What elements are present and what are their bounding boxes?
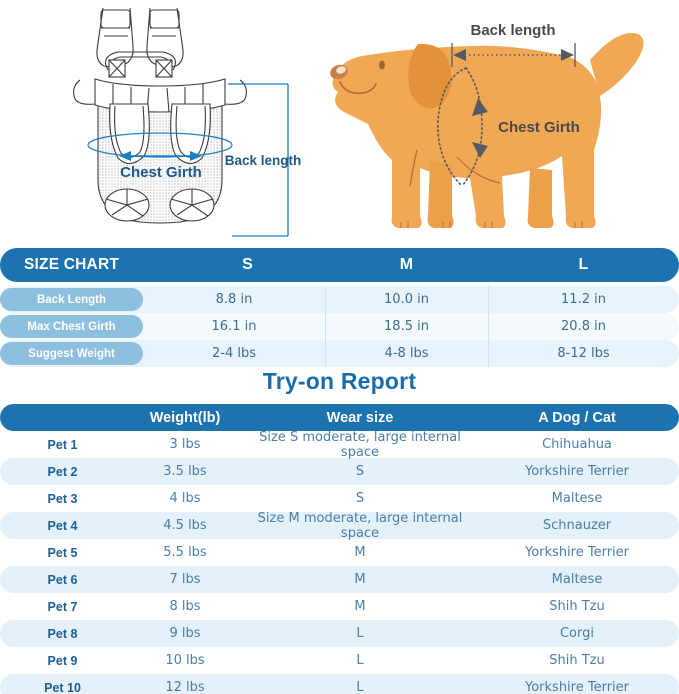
table-row: Pet 6 7 lbs M Maltese (0, 566, 679, 593)
cell-wear-size: L (245, 680, 475, 694)
size-chart-body: Back Length 8.8 in 10.0 in 11.2 in Max C… (0, 286, 679, 367)
cell-weight-m: 4-8 lbs (325, 346, 488, 361)
cell-weight: 7 lbs (125, 572, 245, 587)
cell-wear-size: S (245, 464, 475, 479)
cell-weight: 5.5 lbs (125, 545, 245, 560)
table-row: Pet 2 3.5 lbs S Yorkshire Terrier (0, 458, 679, 485)
carrier-chest-girth-label: Chest Girth (120, 164, 202, 181)
carrier-illustration (74, 8, 288, 236)
cell-pet: Pet 9 (0, 654, 125, 668)
cell-back-length-s: 8.8 in (143, 292, 325, 307)
size-column-s: S (170, 256, 325, 274)
carrier-back-length-label: Back length (225, 153, 302, 168)
cell-pet: Pet 5 (0, 546, 125, 560)
cell-pet: Pet 6 (0, 573, 125, 587)
table-row: Back Length 8.8 in 10.0 in 11.2 in (0, 286, 679, 313)
cell-pet: Pet 10 (0, 681, 125, 694)
table-row: Pet 5 5.5 lbs M Yorkshire Terrier (0, 539, 679, 566)
cell-wear-size: L (245, 626, 475, 641)
size-guide-page: Chest Girth Back length (0, 0, 679, 694)
cell-pet: Pet 1 (0, 438, 125, 452)
cell-weight: 9 lbs (125, 626, 245, 641)
cell-weight-l: 8-12 lbs (488, 346, 679, 361)
table-row: Pet 9 10 lbs L Shih Tzu (0, 647, 679, 674)
cell-pet: Pet 7 (0, 600, 125, 614)
tryon-col-wear-size: Wear size (245, 410, 475, 426)
table-row: Pet 10 12 lbs L Yorkshire Terrier (0, 674, 679, 694)
cell-chest-girth-l: 20.8 in (488, 319, 679, 334)
cell-wear-size: Size M moderate, large internal space (245, 511, 475, 541)
cell-pet: Pet 2 (0, 465, 125, 479)
cell-breed: Yorkshire Terrier (475, 545, 679, 560)
cell-breed: Shih Tzu (475, 599, 679, 614)
cell-wear-size: Size S moderate, large internal space (245, 430, 475, 460)
cell-breed: Maltese (475, 491, 679, 506)
cell-pet: Pet 4 (0, 519, 125, 533)
cell-breed: Yorkshire Terrier (475, 464, 679, 479)
cell-weight: 3 lbs (125, 437, 245, 452)
size-chart-title: SIZE CHART (0, 256, 170, 274)
cell-wear-size: M (245, 545, 475, 560)
table-row: Suggest Weight 2-4 lbs 4-8 lbs 8-12 lbs (0, 340, 679, 367)
cell-back-length-m: 10.0 in (325, 292, 488, 307)
cell-weight-s: 2-4 lbs (143, 346, 325, 361)
size-chart-table: SIZE CHART S M L Back Length 8.8 in 10.0… (0, 248, 679, 367)
cell-breed: Schnauzer (475, 518, 679, 533)
tryon-report-title: Try-on Report (0, 368, 679, 395)
size-chart-header-row: SIZE CHART S M L (0, 248, 679, 282)
tryon-report-table: Weight(lb) Wear size A Dog / Cat Pet 1 3… (0, 404, 679, 694)
cell-pet: Pet 3 (0, 492, 125, 506)
row-label-back-length: Back Length (0, 288, 143, 311)
table-row: Max Chest Girth 16.1 in 18.5 in 20.8 in (0, 313, 679, 340)
table-row: Pet 8 9 lbs L Corgi (0, 620, 679, 647)
size-column-l: L (488, 256, 679, 274)
cell-chest-girth-m: 18.5 in (325, 319, 488, 334)
cell-weight: 10 lbs (125, 653, 245, 668)
table-row: Pet 7 8 lbs M Shih Tzu (0, 593, 679, 620)
tryon-col-breed: A Dog / Cat (475, 410, 679, 426)
table-row: Pet 3 4 lbs S Maltese (0, 485, 679, 512)
dog-back-length-label: Back length (470, 22, 555, 39)
cell-weight: 4.5 lbs (125, 518, 245, 533)
cell-breed: Maltese (475, 572, 679, 587)
cell-breed: Corgi (475, 626, 679, 641)
table-row: Pet 4 4.5 lbs Size M moderate, large int… (0, 512, 679, 539)
size-column-m: M (325, 256, 488, 274)
table-row: Pet 1 3 lbs Size S moderate, large inter… (0, 431, 679, 458)
cell-weight: 12 lbs (125, 680, 245, 694)
dog-illustration (328, 33, 643, 228)
cell-wear-size: S (245, 491, 475, 506)
cell-pet: Pet 8 (0, 627, 125, 641)
tryon-header-row: Weight(lb) Wear size A Dog / Cat (0, 404, 679, 431)
cell-breed: Chihuahua (475, 437, 679, 452)
row-label-suggest-weight: Suggest Weight (0, 342, 143, 365)
cell-back-length-l: 11.2 in (488, 292, 679, 307)
cell-chest-girth-s: 16.1 in (143, 319, 325, 334)
tryon-col-weight: Weight(lb) (125, 410, 245, 426)
cell-wear-size: M (245, 572, 475, 587)
illustration-panel: Chest Girth Back length (0, 0, 679, 240)
cell-wear-size: L (245, 653, 475, 668)
cell-breed: Shih Tzu (475, 653, 679, 668)
cell-breed: Yorkshire Terrier (475, 680, 679, 694)
cell-wear-size: M (245, 599, 475, 614)
row-label-max-chest-girth: Max Chest Girth (0, 315, 143, 338)
cell-weight: 4 lbs (125, 491, 245, 506)
cell-weight: 3.5 lbs (125, 464, 245, 479)
dog-chest-girth-label: Chest Girth (498, 119, 580, 136)
cell-weight: 8 lbs (125, 599, 245, 614)
